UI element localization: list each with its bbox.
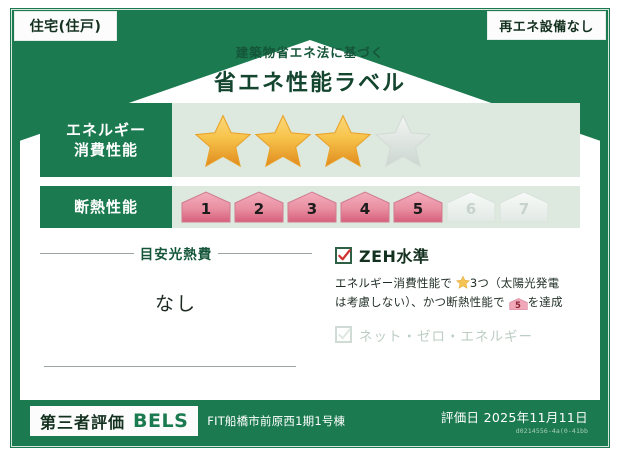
evaluation-date: 評価日 2025年11月11日 bbox=[441, 407, 588, 426]
insulation-level-scale: 1 2 3 bbox=[180, 190, 550, 224]
insulation-chip-4: 4 bbox=[339, 190, 391, 224]
insulation-performance-row: 断熱性能 bbox=[40, 186, 580, 228]
utility-cost-value: なし bbox=[40, 289, 312, 316]
bels-badge-en-label: BELS bbox=[133, 410, 188, 432]
insulation-chip-1: 1 bbox=[180, 190, 232, 224]
insulation-chip-inline: 5 bbox=[509, 297, 528, 311]
insulation-chip-5: 5 bbox=[392, 190, 444, 224]
check-icon bbox=[337, 248, 352, 263]
label-footer: 第三者評価 BELS FIT船橋市前原西1期1号棟 評価日 2025年11月11… bbox=[20, 400, 600, 442]
star-icon-filled bbox=[314, 112, 372, 168]
renewable-equipment-tag: 再エネ設備なし bbox=[487, 11, 606, 40]
zeh-title: ZEH水準 bbox=[359, 243, 429, 267]
zeh-desc-part2: は考慮しない）、かつ断熱性能で bbox=[335, 295, 505, 309]
zeh-desc-star-count: 3つ（太陽光発電 bbox=[470, 276, 559, 290]
net-zero-energy-checkbox bbox=[335, 326, 352, 343]
energy-performance-label: 住宅(住戸) 再エネ設備なし 建築物省エネ法に基づく 省エネ性能ラベル エネルギ… bbox=[0, 0, 620, 456]
net-zero-energy-row: ネット・ゼロ・エネルギー bbox=[335, 325, 583, 345]
insulation-chip-label: 3 bbox=[307, 202, 317, 224]
insulation-chip-inline-label: 5 bbox=[509, 297, 528, 315]
insulation-chip-3: 3 bbox=[286, 190, 338, 224]
insulation-chip-label: 4 bbox=[360, 202, 370, 224]
insulation-chip-label: 6 bbox=[466, 202, 476, 224]
zeh-desc-part3: を達成 bbox=[528, 295, 563, 309]
bels-badge: 第三者評価 BELS bbox=[30, 406, 198, 436]
net-zero-energy-label: ネット・ゼロ・エネルギー bbox=[359, 325, 533, 345]
insulation-chip-7: 7 bbox=[498, 190, 550, 224]
zeh-block: ZEH水準 エネルギー消費性能で 3つ（太陽光発電 は考慮しない）、かつ断熱性能… bbox=[335, 243, 583, 345]
check-icon bbox=[337, 327, 352, 342]
energy-header-line2: 消費性能 bbox=[74, 140, 138, 160]
energy-performance-value bbox=[172, 103, 580, 177]
energy-performance-row: エネルギー 消費性能 bbox=[40, 103, 580, 177]
lower-section: 目安光熱費 なし ZEH水準 エネルギー消費性能で 3つ（太陽光発電 bbox=[40, 243, 580, 383]
star-icon-filled bbox=[194, 112, 252, 168]
insulation-chip-label: 2 bbox=[254, 202, 264, 224]
star-icon-empty bbox=[374, 112, 432, 168]
insulation-performance-value: 1 2 3 bbox=[172, 186, 580, 228]
insulation-chip-6: 6 bbox=[445, 190, 497, 224]
building-name: FIT船橋市前原西1期1号棟 bbox=[207, 413, 345, 429]
insulation-chip-label: 1 bbox=[201, 202, 211, 224]
zeh-checkbox bbox=[335, 247, 352, 264]
utility-cost-heading: 目安光熱費 bbox=[40, 243, 312, 263]
building-type-tag: 住宅(住戸) bbox=[14, 11, 117, 41]
rating-rows: エネルギー 消費性能 bbox=[40, 103, 580, 237]
zeh-desc-part1: エネルギー消費性能で bbox=[335, 276, 452, 290]
utility-cost-underline bbox=[44, 366, 296, 367]
energy-header-line1: エネルギー bbox=[66, 120, 146, 140]
zeh-heading: ZEH水準 bbox=[335, 243, 583, 267]
insulation-chip-label: 5 bbox=[413, 202, 423, 224]
zeh-description: エネルギー消費性能で 3つ（太陽光発電 は考慮しない）、かつ断熱性能で 5 を達… bbox=[335, 274, 583, 312]
energy-performance-header: エネルギー 消費性能 bbox=[40, 103, 172, 177]
divider-left bbox=[40, 253, 134, 254]
star-icon-filled bbox=[254, 112, 312, 168]
evaluation-date-block: 評価日 2025年11月11日 d0214556-4a(0-41bb bbox=[441, 407, 588, 435]
star-rating bbox=[194, 112, 432, 168]
star-icon-inline bbox=[456, 275, 470, 289]
utility-cost-block: 目安光熱費 なし bbox=[40, 243, 312, 316]
insulation-chip-2: 2 bbox=[233, 190, 285, 224]
divider-right bbox=[218, 253, 312, 254]
bels-badge-jp-label: 第三者評価 bbox=[40, 409, 125, 433]
utility-cost-title: 目安光熱費 bbox=[140, 243, 213, 263]
insulation-chip-label: 7 bbox=[519, 202, 529, 224]
insulation-performance-header: 断熱性能 bbox=[40, 186, 172, 228]
certificate-id: d0214556-4a(0-41bb bbox=[441, 427, 588, 435]
